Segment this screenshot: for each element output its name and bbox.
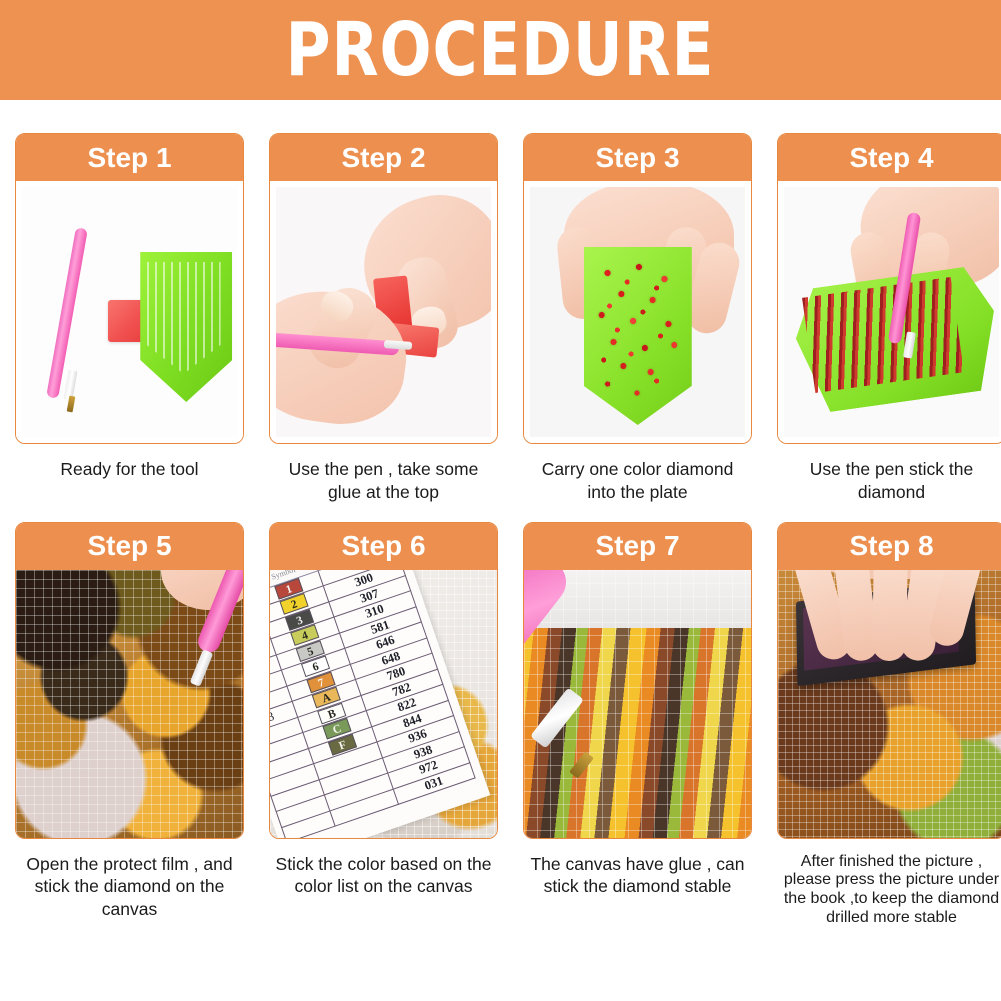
step-photo-4: [778, 181, 1001, 443]
step-caption-7: The canvas have glue , can stick the dia…: [523, 853, 752, 899]
step-card-1: Step 1: [15, 133, 244, 444]
tools-photo: [22, 187, 237, 437]
step-card-6: Step 6 SerialSymbolDMC112230033307443105…: [269, 522, 498, 839]
step-card-7: Step 7: [523, 522, 752, 839]
step-label-5: Step 5: [87, 532, 171, 560]
step-card-8: Step 8: [777, 522, 1001, 839]
page-header-banner: PROCEDURE: [0, 0, 1001, 100]
step-label-2: Step 2: [341, 144, 425, 172]
step-label-3: Step 3: [595, 144, 679, 172]
step-card-2: Step 2: [269, 133, 498, 444]
step-card-header-6: Step 6: [270, 523, 497, 570]
red-diamonds-icon: [588, 255, 686, 405]
step-card-header-8: Step 8: [778, 523, 1001, 570]
step-photo-6: SerialSymbolDMC1122300333074431055581666…: [270, 570, 497, 838]
step-card-5: Step 5: [15, 522, 244, 839]
page-title: PROCEDURE: [286, 13, 715, 87]
press-with-book-photo: [778, 570, 1001, 838]
step-photo-3: [524, 181, 751, 443]
step-card-header-3: Step 3: [524, 134, 751, 181]
step-caption-8: After finished the picture , please pres…: [777, 853, 1001, 929]
step-card-3: Step 3: [523, 133, 752, 444]
step-label-7: Step 7: [595, 532, 679, 560]
pen-picks-diamond-photo: [784, 187, 999, 437]
step-card-4: Step 4: [777, 133, 1001, 444]
procedure-infographic: PROCEDURE Step 1: [0, 0, 1001, 1001]
bead-macro-photo: [524, 570, 751, 838]
step-card-header-1: Step 1: [16, 134, 243, 181]
step-cell-3: Step 3 Carry one co: [523, 133, 752, 504]
step-caption-1: Ready for the tool: [15, 458, 244, 481]
mosaic-canvas-photo: [16, 570, 243, 838]
step-cell-1: Step 1 Ready for the tool: [15, 133, 244, 504]
step-caption-5: Open the protect film , and stick the di…: [15, 853, 244, 921]
step-caption-4: Use the pen stick the diamond: [777, 458, 1001, 504]
step-photo-2: [270, 181, 497, 443]
step-cell-6: Step 6 SerialSymbolDMC112230033307443105…: [269, 522, 498, 929]
step-photo-8: [778, 570, 1001, 838]
step-photo-1: [16, 181, 243, 443]
step-card-header-4: Step 4: [778, 134, 1001, 181]
step-cell-7: Step 7 The canvas have glue , can stick …: [523, 522, 752, 929]
step-label-6: Step 6: [341, 532, 425, 560]
step-caption-3: Carry one color diamond into the plate: [523, 458, 752, 504]
steps-grid: Step 1 Ready for the tool: [15, 133, 986, 928]
step-label-4: Step 4: [849, 144, 933, 172]
glue-pickup-photo: [276, 187, 491, 437]
step-caption-2: Use the pen , take some glue at the top: [269, 458, 498, 504]
step-cell-2: Step 2: [269, 133, 498, 504]
step-card-header-5: Step 5: [16, 523, 243, 570]
step-caption-6: Stick the color based on the color list …: [269, 853, 498, 899]
step-cell-8: Step 8: [777, 522, 1001, 929]
step-cell-5: Step 5 Open the protect film , and stick…: [15, 522, 244, 929]
step-card-header-2: Step 2: [270, 134, 497, 181]
steps-row-top: Step 1 Ready for the tool: [15, 133, 986, 504]
tray-with-diamonds-photo: [530, 187, 745, 437]
pen-nib-icon: [67, 395, 76, 412]
step-label-8: Step 8: [849, 532, 933, 560]
color-chart-photo: SerialSymbolDMC1122300333074431055581666…: [270, 570, 497, 838]
steps-row-bottom: Step 5 Open the protect film , and stick…: [15, 522, 986, 929]
step-label-1: Step 1: [87, 144, 171, 172]
pink-pen-icon: [46, 227, 88, 398]
pen-tip-icon: [383, 340, 411, 350]
step-cell-4: Step 4 Use the pen: [777, 133, 1001, 504]
step-photo-7: [524, 570, 751, 838]
step-photo-5: [16, 570, 243, 838]
step-card-header-7: Step 7: [524, 523, 751, 570]
